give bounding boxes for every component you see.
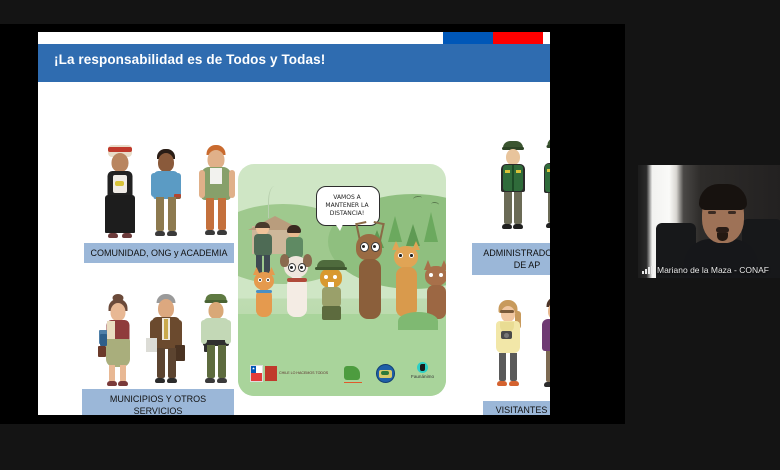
flag-red-band xyxy=(493,32,543,44)
smoke xyxy=(268,186,281,218)
sponsor-logo-row: CHILE LO HACEMOS TODOS xyxy=(250,360,434,386)
figure-older-man-vest xyxy=(196,142,236,238)
figure-park-ranger-man xyxy=(538,135,550,231)
figure-mapuche-woman xyxy=(100,145,140,241)
bush xyxy=(398,312,438,330)
faunanimo-label: Faunánimo xyxy=(411,374,434,379)
label-visitantes: VISITANTES xyxy=(483,401,550,415)
presentation-slide: ¡La responsabilidad es de Todos y Todas! xyxy=(38,32,550,415)
participant-name: Mariano de la Maza - CONAF xyxy=(657,265,769,275)
tree-3 xyxy=(424,212,438,242)
figure-park-ranger-woman xyxy=(493,137,533,233)
figure-tourist-woman-camera xyxy=(488,297,528,393)
screen-share-region: ¡La responsabilidad es de Todos y Todas! xyxy=(0,24,625,424)
person-eye-left xyxy=(708,211,716,214)
gobierno-caption: CHILE LO HACEMOS TODOS xyxy=(279,371,328,375)
figure-carabinero-officer xyxy=(196,291,236,387)
label-comunidad-ong-academia: COMUNIDAD, ONG y ACADEMIA xyxy=(84,243,234,263)
faunanimo-logo: Faunánimo xyxy=(411,362,434,384)
animal-cat xyxy=(250,268,278,320)
chile-flag-accent xyxy=(443,32,543,44)
tree-1 xyxy=(388,216,402,242)
animal-huemul-deer xyxy=(348,222,390,320)
conaf-logo xyxy=(344,362,360,384)
person-eye-right xyxy=(728,211,736,214)
speech-bubble-text: VAMOS A MANTENER LA DISTANCIA! xyxy=(318,194,376,218)
animal-puma xyxy=(388,242,424,320)
label-administradores-de-ap: ADMINISTRADORES DE AP xyxy=(472,243,550,275)
animal-ranger-coypu xyxy=(314,260,348,320)
video-call-screen: ¡La responsabilidad es de Todos y Todas! xyxy=(0,0,780,470)
person-hair xyxy=(699,184,747,210)
animal-dog xyxy=(278,254,312,320)
figure-official-man xyxy=(146,290,186,386)
speech-bubble-tail xyxy=(334,222,344,231)
flag-blue-band xyxy=(443,32,493,44)
figure-teacher-woman xyxy=(98,294,138,390)
figure-young-man xyxy=(146,145,186,241)
sag-emblem-logo xyxy=(376,362,395,384)
gobierno-de-chile-logo: CHILE LO HACEMOS TODOS xyxy=(250,362,328,384)
participant-name-overlay: Mariano de la Maza - CONAF xyxy=(642,265,769,275)
slide-title: ¡La responsabilidad es de Todos y Todas! xyxy=(54,52,524,67)
audio-level-bars-icon xyxy=(642,266,653,274)
animal-fox xyxy=(422,260,446,320)
illustration-panel: VAMOS A MANTENER LA DISTANCIA! xyxy=(238,164,446,396)
figure-tourist-man xyxy=(536,294,550,390)
illus-hiker-man xyxy=(252,222,274,274)
participant-video-tile[interactable]: Mariano de la Maza - CONAF xyxy=(638,165,780,278)
label-municipios-otros-servicios: MUNICIPIOS Y OTROS SERVICIOS xyxy=(82,389,234,415)
